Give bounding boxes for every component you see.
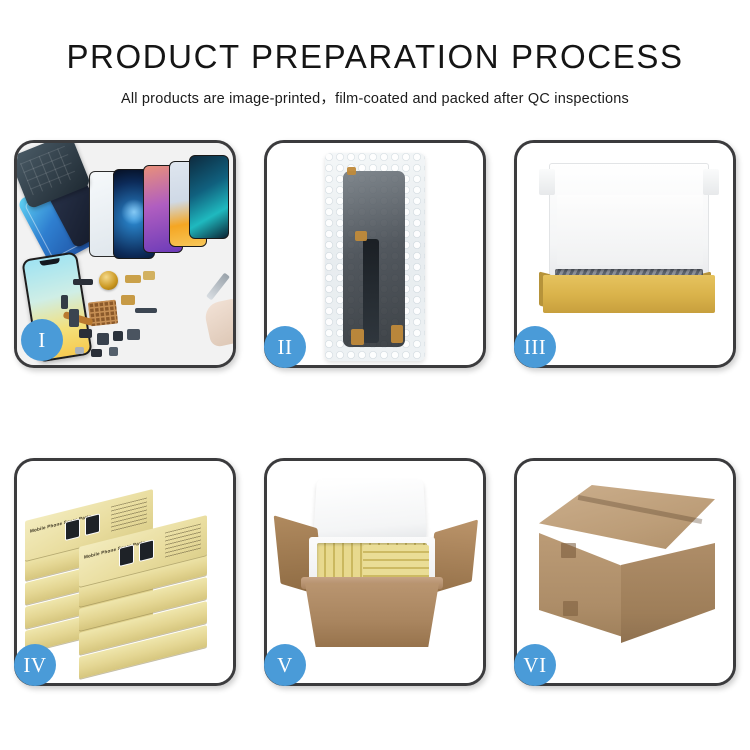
box-phone-image-icon: [139, 539, 154, 562]
carton-right-face-icon: [621, 543, 715, 643]
step-badge-1: I: [21, 319, 63, 361]
process-step-grid: I II: [14, 140, 736, 686]
component-part-icon: [121, 295, 135, 305]
component-part-icon: [69, 309, 79, 327]
gold-tab-icon: [351, 329, 364, 345]
box-label-text: Mobile Phone Spare Parts: [84, 539, 145, 559]
component-part-icon: [61, 295, 68, 309]
yellow-mailer-box-icon: [543, 275, 715, 313]
component-part-icon: [125, 275, 141, 283]
flex-cable-icon: [363, 239, 379, 343]
tweezers-icon: [206, 273, 230, 301]
box-label-text: Mobile Phone Spare Parts: [30, 513, 91, 533]
process-step-card-4[interactable]: Mobile Phone Spare Parts Mobile Phone Sp…: [14, 458, 236, 686]
product-preparation-infographic: PRODUCT PREPARATION PROCESS All products…: [0, 0, 750, 750]
component-part-icon: [91, 349, 102, 357]
phone-teal-display-icon: [189, 155, 229, 239]
box-phone-image-icon: [119, 544, 134, 567]
process-step-card-3[interactable]: III: [514, 140, 736, 368]
process-step-card-1[interactable]: I: [14, 140, 236, 368]
step-badge-2: II: [264, 326, 306, 368]
step-badge-6: VI: [514, 644, 556, 686]
box-spec-text-block: [111, 498, 147, 533]
bubble-wrap-bag-icon: [325, 153, 425, 361]
component-part-icon: [113, 331, 123, 341]
process-step-card-6[interactable]: VI: [514, 458, 736, 686]
component-part-icon: [143, 271, 155, 280]
component-part-icon: [127, 329, 140, 340]
page-subtitle: All products are image-printed，film-coat…: [0, 87, 750, 108]
hand-icon: [203, 298, 233, 348]
step-badge-4: IV: [14, 644, 56, 686]
carton-tape-icon: [563, 601, 578, 616]
page-title: PRODUCT PREPARATION PROCESS: [0, 38, 750, 76]
gold-tab-icon: [347, 167, 356, 175]
box-phone-image-icon: [85, 513, 100, 536]
component-part-icon: [135, 308, 157, 313]
component-part-icon: [73, 279, 93, 285]
packed-yellow-boxes-icon: [363, 545, 429, 579]
component-part-icon: [97, 333, 109, 345]
box-spec-text-block: [165, 524, 201, 559]
foam-sheet-icon: [557, 195, 703, 265]
carton-left-face-icon: [539, 533, 623, 637]
component-part-icon: [109, 347, 118, 356]
gold-tab-icon: [391, 325, 403, 343]
box-phone-image-icon: [65, 518, 80, 541]
component-part-icon: [75, 347, 84, 354]
process-step-card-5[interactable]: V: [264, 458, 486, 686]
step-badge-5: V: [264, 644, 306, 686]
carton-tape-icon: [561, 543, 576, 558]
carton-body-icon: [305, 583, 439, 647]
speaker-coil-icon: [99, 271, 118, 290]
component-part-icon: [79, 329, 92, 338]
foam-lid-icon: [313, 479, 427, 541]
header: PRODUCT PREPARATION PROCESS All products…: [0, 0, 750, 108]
gold-tab-icon: [355, 231, 367, 241]
step-badge-3: III: [514, 326, 556, 368]
process-step-card-2[interactable]: II: [264, 140, 486, 368]
